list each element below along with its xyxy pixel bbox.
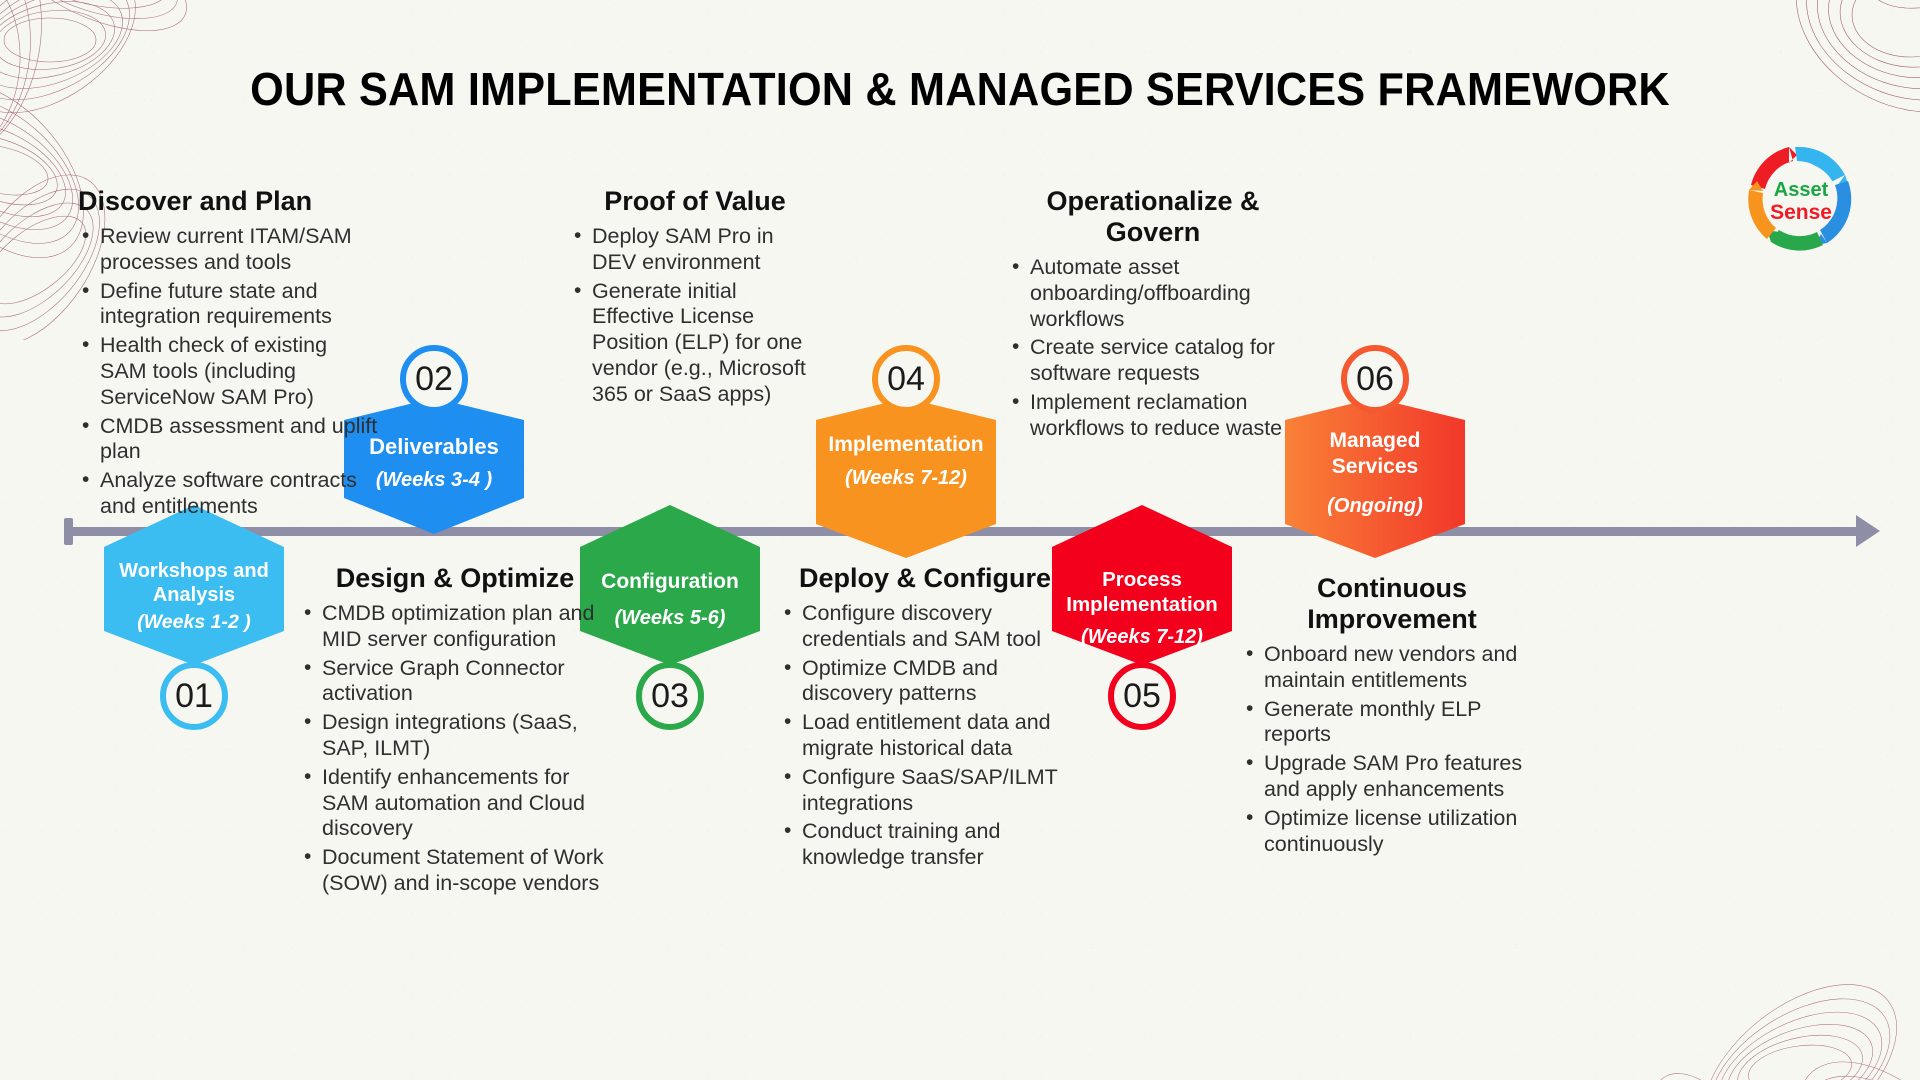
milestone-02-period: (Weeks 3-4 )	[344, 468, 524, 492]
list-item: Service Graph Connector activation	[300, 656, 610, 708]
column-1-heading: Discover and Plan	[78, 186, 378, 217]
column-deploy-and-configure: Deploy & Configure Configure discovery c…	[780, 563, 1070, 874]
list-item: Load entitlement data and migrate histor…	[780, 710, 1070, 762]
milestone-03-period: (Weeks 5-6)	[580, 606, 760, 630]
milestone-01-badge[interactable]: 01	[160, 662, 228, 730]
milestone-06[interactable]: Managed Services (Ongoing)	[1285, 398, 1465, 558]
milestone-06-period: (Ongoing)	[1285, 494, 1465, 518]
decorative-mesh-bottom-right	[1650, 900, 1920, 1080]
column-6-bullets: Onboard new vendors and maintain entitle…	[1242, 642, 1542, 857]
list-item: Implement reclamation workflows to reduc…	[1008, 390, 1298, 442]
list-item: CMDB optimization plan and MID server co…	[300, 601, 610, 653]
list-item: Create service catalog for software requ…	[1008, 335, 1298, 387]
milestone-05-label: Process Implementation	[1052, 567, 1232, 617]
column-6-heading: Continuous Improvement	[1242, 573, 1542, 635]
list-item: Upgrade SAM Pro features and apply enhan…	[1242, 751, 1542, 803]
milestone-01-period: (Weeks 1-2 )	[104, 611, 284, 634]
list-item: CMDB assessment and uplift plan	[78, 414, 378, 466]
column-4-bullets: Configure discovery credentials and SAM …	[780, 601, 1070, 871]
list-item: Generate initial Effective License Posit…	[570, 279, 820, 408]
list-item: Automate asset onboarding/offboarding wo…	[1008, 255, 1298, 332]
list-item: Configure discovery credentials and SAM …	[780, 601, 1070, 653]
column-3-heading: Proof of Value	[570, 186, 820, 217]
list-item: Design integrations (SaaS, SAP, ILMT)	[300, 710, 610, 762]
milestone-03-badge[interactable]: 03	[636, 662, 704, 730]
milestone-04-badge[interactable]: 04	[872, 345, 940, 413]
milestone-04-label: Implementation	[816, 432, 996, 458]
list-item: Analyze software contracts and entitleme…	[78, 468, 378, 520]
milestone-05[interactable]: Process Implementation (Weeks 7-12)	[1052, 505, 1232, 665]
logo-word-asset: Asset	[1731, 180, 1871, 200]
list-item: Onboard new vendors and maintain entitle…	[1242, 642, 1542, 694]
column-2-bullets: CMDB optimization plan and MID server co…	[300, 601, 610, 897]
asset-sense-logo: Asset Sense	[1731, 140, 1871, 258]
milestone-05-badge[interactable]: 05	[1108, 662, 1176, 730]
list-item: Review current ITAM/SAM processes and to…	[78, 224, 378, 276]
list-item: Health check of existing SAM tools (incl…	[78, 333, 378, 410]
page-title: OUR SAM IMPLEMENTATION & MANAGED SERVICE…	[58, 62, 1863, 116]
column-5-heading: Operationalize & Govern	[1008, 186, 1298, 248]
list-item: Optimize CMDB and discovery patterns	[780, 656, 1070, 708]
list-item: Deploy SAM Pro in DEV environment	[570, 224, 820, 276]
milestone-04[interactable]: Implementation (Weeks 7-12)	[816, 398, 996, 558]
column-operationalize-and-govern: Operationalize & Govern Automate asset o…	[1008, 186, 1298, 445]
column-proof-of-value: Proof of Value Deploy SAM Pro in DEV env…	[570, 186, 820, 411]
milestone-01[interactable]: Workshops and Analysis (Weeks 1-2 )	[104, 505, 284, 665]
axis-start-cap	[64, 518, 73, 545]
milestone-01-label: Workshops and Analysis	[104, 559, 284, 608]
infographic-canvas: OUR SAM IMPLEMENTATION & MANAGED SERVICE…	[0, 0, 1920, 1080]
milestone-06-label: Managed Services	[1285, 428, 1465, 479]
milestone-06-badge[interactable]: 06	[1341, 345, 1409, 413]
column-3-bullets: Deploy SAM Pro in DEV environment Genera…	[570, 224, 820, 408]
column-continuous-improvement: Continuous Improvement Onboard new vendo…	[1242, 573, 1542, 860]
milestone-05-period: (Weeks 7-12)	[1052, 625, 1232, 649]
column-discover-and-plan: Discover and Plan Review current ITAM/SA…	[78, 186, 378, 523]
list-item: Generate monthly ELP reports	[1242, 697, 1542, 749]
list-item: Optimize license utilization continuousl…	[1242, 806, 1542, 858]
list-item: Identify enhancements for SAM automation…	[300, 765, 610, 842]
axis-arrow-icon	[1856, 515, 1880, 547]
milestone-02-badge[interactable]: 02	[400, 345, 468, 413]
list-item: Define future state and integration requ…	[78, 279, 378, 331]
list-item: Conduct training and knowledge transfer	[780, 819, 1070, 871]
column-5-bullets: Automate asset onboarding/offboarding wo…	[1008, 255, 1298, 442]
column-4-heading: Deploy & Configure	[780, 563, 1070, 594]
milestone-02-label: Deliverables	[344, 434, 524, 461]
list-item: Document Statement of Work (SOW) and in-…	[300, 845, 610, 897]
column-2-heading: Design & Optimize	[300, 563, 610, 594]
list-item: Configure SaaS/SAP/ILMT integrations	[780, 765, 1070, 817]
milestone-04-period: (Weeks 7-12)	[816, 466, 996, 490]
logo-word-sense: Sense	[1731, 202, 1871, 223]
milestone-03-label: Configuration	[580, 569, 760, 595]
column-design-and-optimize: Design & Optimize CMDB optimization plan…	[300, 563, 610, 900]
column-1-bullets: Review current ITAM/SAM processes and to…	[78, 224, 378, 520]
